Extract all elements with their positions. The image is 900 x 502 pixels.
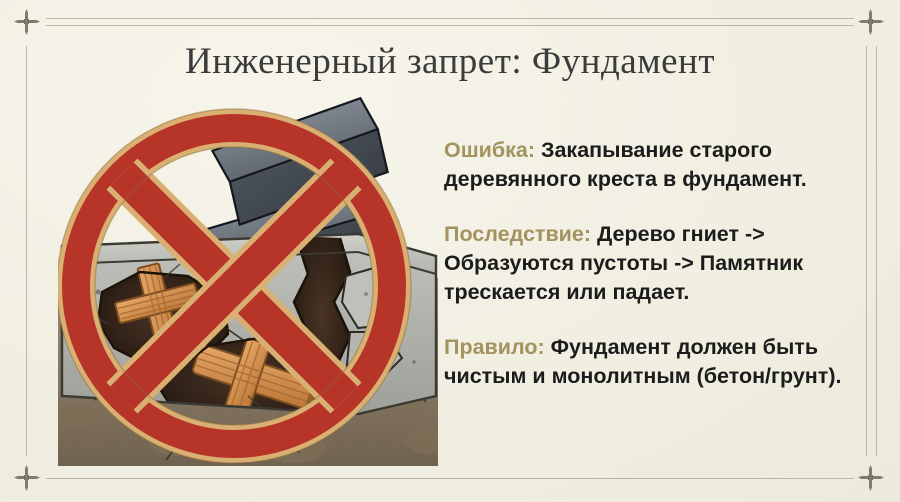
frame-line-bottom-a	[46, 478, 854, 479]
ornament-bottom-right	[858, 465, 884, 491]
frame-line-left	[26, 46, 27, 456]
ornament-top-left	[14, 9, 40, 35]
paragraph-oshibka: Ошибка: Закапывание старого деревянного …	[444, 136, 864, 194]
page-title: Инженерный запрет: Фундамент	[0, 40, 900, 83]
label-posledstvie: Последствие:	[444, 222, 591, 246]
frame-line-top-a	[46, 18, 854, 19]
frame-line-top-b	[46, 25, 854, 26]
paragraph-posledstvie: Последствие: Дерево гниет -> Образуются …	[444, 220, 864, 307]
ornament-top-right	[858, 9, 884, 35]
prohibition-foundation-illustration	[58, 96, 438, 466]
label-pravilo: Правило:	[444, 335, 545, 359]
slide-canvas: Инженерный запрет: Фундамент	[0, 0, 900, 502]
ornament-bottom-left	[14, 465, 40, 491]
label-oshibka: Ошибка:	[444, 138, 535, 162]
paragraph-pravilo: Правило: Фундамент должен быть чистым и …	[444, 333, 864, 391]
content-text-column: Ошибка: Закапывание старого деревянного …	[444, 136, 864, 391]
frame-line-right-b	[876, 46, 877, 456]
frame-line-right-a	[866, 46, 867, 456]
